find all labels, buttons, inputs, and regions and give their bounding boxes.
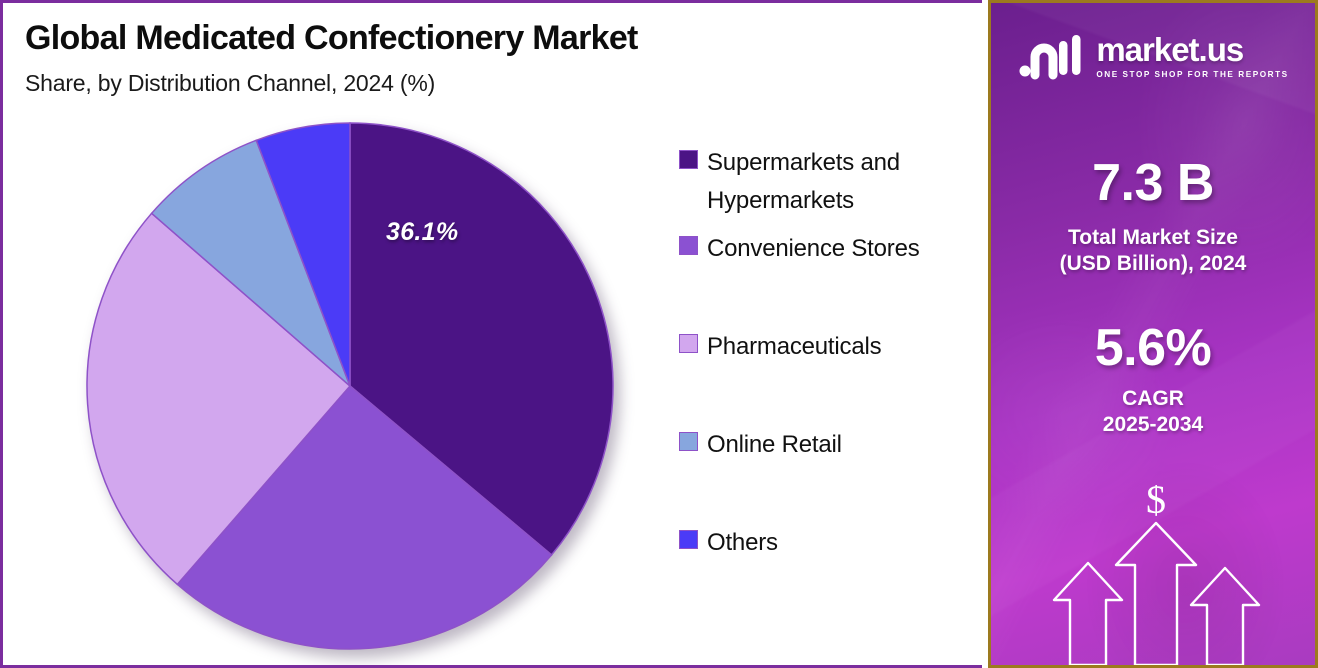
page-title: Global Medicated Confectionery Market — [25, 19, 638, 58]
growth-arrows-icon: $ — [991, 485, 1318, 665]
legend-item-label: Others — [707, 524, 778, 562]
cagr-value: 5.6% — [991, 322, 1315, 374]
legend-swatch-icon — [679, 530, 698, 549]
brand-logo[interactable]: market.us ONE STOP SHOP FOR THE REPORTS — [991, 31, 1315, 81]
market-us-logo-icon — [1017, 31, 1085, 81]
chart-subtitle: Share, by Distribution Channel, 2024 (%) — [25, 70, 638, 97]
growth-arrows-illustration: $ — [991, 485, 1315, 665]
chart-legend: Supermarkets and Hypermarkets Convenienc… — [679, 144, 969, 572]
legend-item-others[interactable]: Others — [679, 524, 969, 562]
chart-panel: Global Medicated Confectionery Market Sh… — [0, 0, 982, 668]
cagr-caption-line1: CAGR — [991, 386, 1315, 412]
summary-panel: market.us ONE STOP SHOP FOR THE REPORTS … — [988, 0, 1318, 668]
market-size-value: 7.3 B — [991, 157, 1315, 209]
legend-swatch-icon — [679, 150, 698, 169]
legend-swatch-icon — [679, 236, 698, 255]
legend-item-convenience-stores[interactable]: Convenience Stores — [679, 230, 969, 268]
legend-item-pharmaceuticals[interactable]: Pharmaceuticals — [679, 328, 969, 366]
legend-item-supermarkets-and-hypermarkets[interactable]: Supermarkets and Hypermarkets — [679, 144, 969, 220]
infographic-page: Global Medicated Confectionery Market Sh… — [0, 0, 1318, 668]
legend-item-label: Supermarkets and Hypermarkets — [707, 144, 969, 220]
chart-header: Global Medicated Confectionery Market Sh… — [25, 19, 638, 97]
summary-content: market.us ONE STOP SHOP FOR THE REPORTS … — [991, 31, 1315, 438]
brand-text: market.us ONE STOP SHOP FOR THE REPORTS — [1096, 33, 1288, 79]
legend-item-label: Pharmaceuticals — [707, 328, 881, 366]
market-size-caption-line2: (USD Billion), 2024 — [991, 251, 1315, 277]
legend-item-online-retail[interactable]: Online Retail — [679, 426, 969, 464]
pie-slice-label: 36.1% — [386, 218, 458, 247]
market-size-caption-line1: Total Market Size — [991, 225, 1315, 251]
legend-swatch-icon — [679, 432, 698, 451]
cagr-caption-line2: 2025-2034 — [991, 412, 1315, 438]
legend-swatch-icon — [679, 334, 698, 353]
pie-chart: 36.1% — [86, 122, 614, 650]
legend-item-label: Convenience Stores — [707, 230, 920, 268]
market-size-caption: Total Market Size (USD Billion), 2024 — [991, 225, 1315, 278]
cagr-caption: CAGR 2025-2034 — [991, 386, 1315, 439]
legend-item-label: Online Retail — [707, 426, 842, 464]
dollar-sign-icon: $ — [1146, 485, 1166, 522]
brand-name: market.us — [1096, 33, 1288, 66]
pie-svg — [86, 122, 614, 650]
brand-tagline: ONE STOP SHOP FOR THE REPORTS — [1096, 70, 1288, 79]
